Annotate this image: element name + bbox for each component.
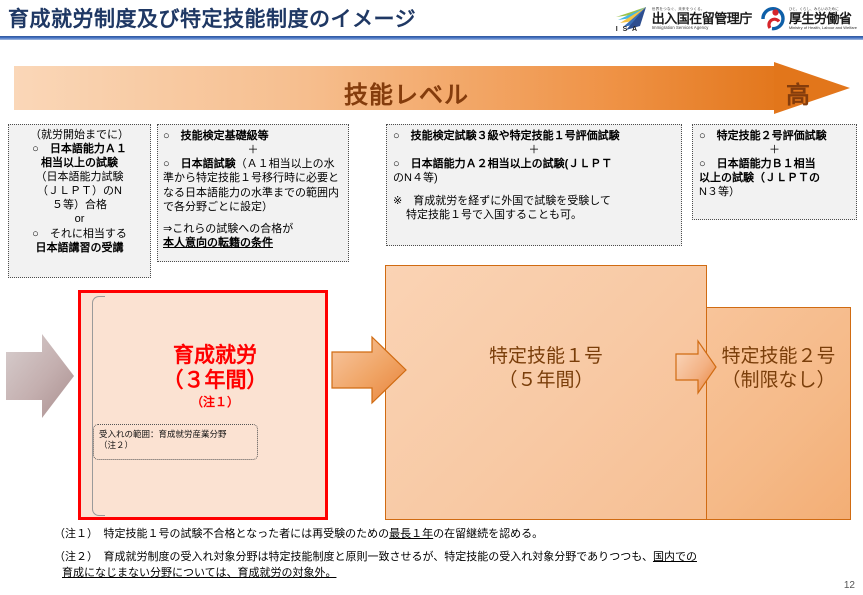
isa-name-en: Immigration Services Agency [652,26,752,30]
footnote-1-text-a: 特定技能１号の試験不合格となった者には再受験のための [93,528,390,540]
flow-box-ssw2-label: 特定技能２号 （制限なし） [706,345,851,393]
slide-header: 育成就労制度及び特定技能制度のイメージ I S A 世界をつなぐ、未来をつくる。… [0,0,863,38]
lang-line-0: （就労開始までに） [13,128,146,142]
subbox-line-2: （注２） [99,440,252,451]
mhlw-name-jp: 厚生労働省 [789,12,857,25]
isa-abbreviation: I S A [616,26,639,33]
mhlw-text-block: ひと、くらし、みらいのために 厚生労働省 Ministry of Health,… [789,8,857,31]
basic-item-2-label: ○ 日本語試験 [163,158,236,170]
lang-line-2: 相当以上の試験 [13,156,146,170]
training-title-line1: 育成就労 [120,344,310,369]
entry-arrow-icon [4,330,76,422]
lang-line-1: ○ 日本語能力Ａ１ [13,142,146,156]
flow-box-ssw1 [385,265,707,520]
ssw2-plus: ＋ [699,143,850,157]
callout-basic-skill-requirement: ○ 技能検定基礎級等 ＋ ○ 日本語試験（Ａ１相当以上の水準から特定技能１号移行… [157,124,349,262]
basic-item-1: ○ 技能検定基礎級等 [163,129,343,143]
training-title-line2: （３年間） [120,369,310,394]
page-number: 12 [844,580,855,591]
ssw1-item-2: ○ 日本語能力Ａ２相当以上の試験(ＪＬＰＴ [393,157,675,171]
callout-ssw1-requirement: ○ 技能検定試験３級や特定技能１号評価試験 ＋ ○ 日本語能力Ａ２相当以上の試験… [386,124,682,246]
lang-line-6: or [13,212,146,226]
basic-conclusion-2: 本人意向の転籍の条件 [163,236,343,250]
ssw1-title-line2: （５年間） [385,369,707,393]
ssw1-item-2-cont: のN４等) [393,171,675,185]
mhlw-mark-icon [760,6,786,32]
ssw1-item-1: ○ 技能検定試験３級や特定技能１号評価試験 [393,129,675,143]
mhlw-logo: ひと、くらし、みらいのために 厚生労働省 Ministry of Health,… [760,6,857,32]
isa-name-jp: 出入国在留管理庁 [652,12,752,25]
isa-logo: I S A 世界をつなぐ、未来をつくる。 出入国在留管理庁 Immigratio… [614,6,752,32]
skill-level-banner: 技能レベル 高 [14,62,850,114]
lang-line-8: 日本語講習の受講 [13,241,146,255]
isa-mark-icon: I S A [614,6,648,32]
footnotes: （注１） 特定技能１号の試験不合格となった者には再受験のための最長１年の在留継続… [54,527,854,589]
footnote-1: （注１） 特定技能１号の試験不合格となった者には再受験のための最長１年の在留継続… [54,527,854,543]
ssw2-item-2-cont: 以上の試験（ＪＬＰＴの [699,171,850,185]
ssw2-item-2-cont2: N３等） [699,185,850,199]
ssw2-item-1: ○ 特定技能２号評価試験 [699,129,850,143]
subbox-line-1: 受入れの範囲：育成就労産業分野 [99,429,252,440]
transition-arrow-training-to-ssw1-icon [330,334,408,406]
lang-line-4: （ＪＬＰＴ）のN [13,184,146,198]
ssw1-note-2: 特定技能１号で入国することも可。 [393,208,675,222]
mhlw-name-en: Ministry of Health, Labour and Welfare [789,26,857,30]
isa-text-block: 世界をつなぐ、未来をつくる。 出入国在留管理庁 Immigration Serv… [652,8,752,31]
page-title: 育成就労制度及び特定技能制度のイメージ [8,3,416,33]
banner-label: 技能レベル [344,75,469,110]
ssw1-title-line1: 特定技能１号 [385,345,707,369]
basic-plus: ＋ [163,143,343,157]
footnote-1-text-b: の在留継続を認める。 [433,528,543,540]
ssw1-plus: ＋ [393,143,675,157]
ssw1-note-1: ※ 育成就労を経ずに外国で試験を受験して [393,194,675,208]
lang-line-7: ○ それに相当する [13,227,146,241]
training-scope-subbox: 受入れの範囲：育成就労産業分野 （注２） [93,424,258,460]
callout-ssw2-requirement: ○ 特定技能２号評価試験 ＋ ○ 日本語能力Ｂ１相当 以上の試験（ＪＬＰＴの N… [692,124,857,220]
callout-language-requirement: （就労開始までに） ○ 日本語能力Ａ１ 相当以上の試験 （日本語能力試験 （ＪＬ… [8,124,151,278]
footnote-2-prefix: （注２） [54,551,93,563]
agency-logos: I S A 世界をつなぐ、未来をつくる。 出入国在留管理庁 Immigratio… [614,2,857,36]
lang-line-3: （日本語能力試験 [13,170,146,184]
basic-conclusion-1: ⇒これらの試験への合格が [163,222,343,236]
header-divider [0,36,863,40]
footnote-1-prefix: （注１） [54,528,93,540]
ssw2-item-2: ○ 日本語能力Ｂ１相当 [699,157,850,171]
footnote-2: （注２） 育成就労制度の受入れ対象分野は特定技能制度と原則一致させるが、特定技能… [54,550,854,582]
ssw2-title-line2: （制限なし） [706,369,851,393]
training-note-ref: （注１） [120,395,310,409]
footnote-2-underline-b: 育成になじまない分野については、育成就労の対象外。 [62,567,336,579]
training-brace [92,296,105,516]
footnote-2-text-a: 育成就労制度の受入れ対象分野は特定技能制度と原則一致させるが、特定技能の受入れ対… [93,551,653,563]
banner-high-label: 高 [786,75,810,110]
footnote-1-underline: 最長１年 [389,528,433,540]
ssw2-title-line1: 特定技能２号 [706,345,851,369]
flow-box-ssw1-label: 特定技能１号 （５年間） [385,345,707,393]
transition-arrow-ssw1-to-ssw2-icon [674,338,718,396]
flow-box-ssw2 [706,307,851,520]
slide-page: 育成就労制度及び特定技能制度のイメージ I S A 世界をつなぐ、未来をつくる。… [0,0,863,595]
flow-box-training-label: 育成就労 （３年間） （注１） [120,344,310,409]
lang-line-5: ５等）合格 [13,198,146,212]
footnote-2-underline-a: 国内での [653,551,697,563]
